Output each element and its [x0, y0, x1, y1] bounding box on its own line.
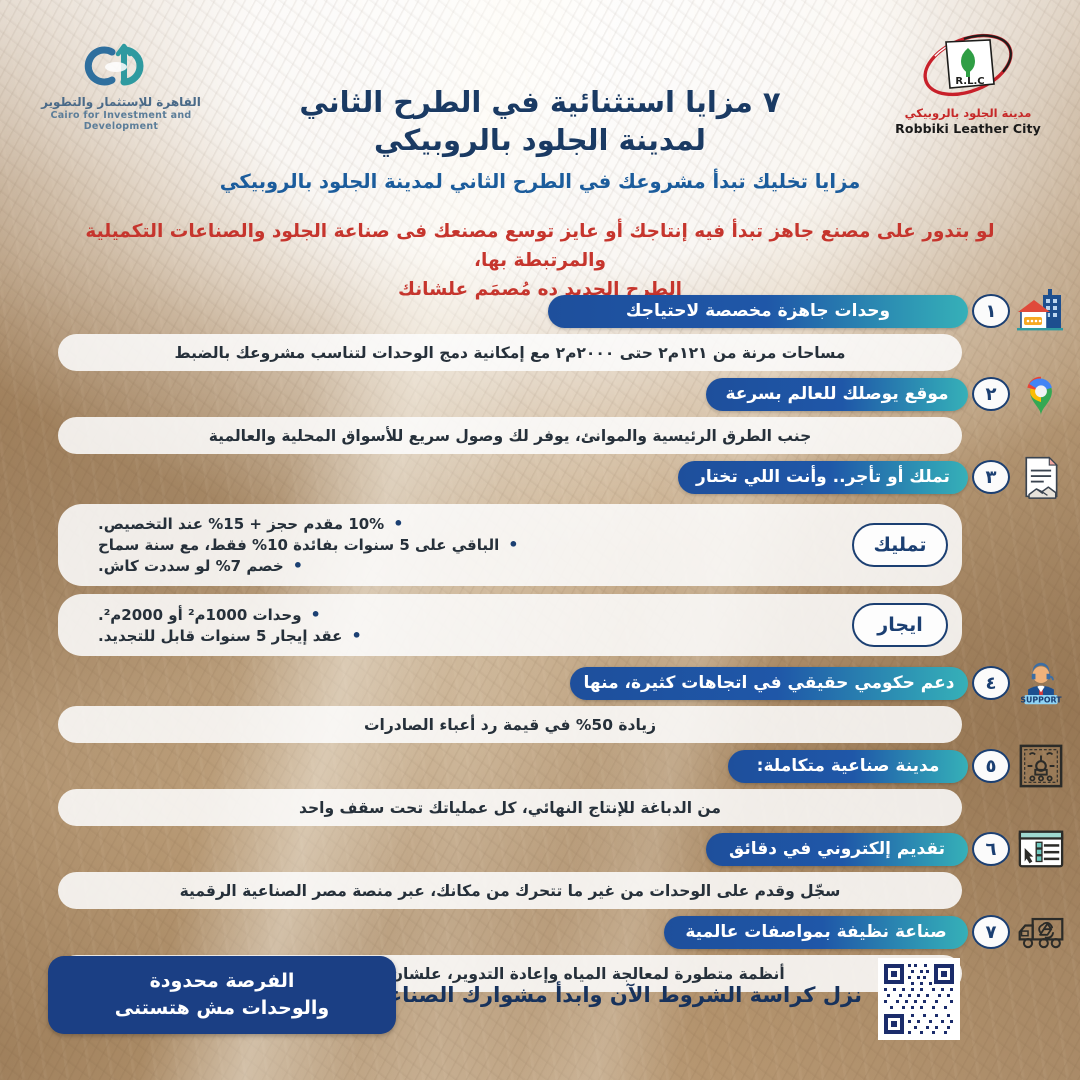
features-list: ١ وحدات جاهزة مخصصة لاحتياجك مساحات مرنة…	[0, 292, 1080, 996]
feature-3-header: ٣ تملك أو تأجر.. وأنت اللي تختار	[0, 458, 1080, 496]
feature-2-description: جنب الطرق الرئيسية والموانئ، يوفر لك وصو…	[58, 417, 962, 454]
online-form-icon	[1010, 829, 1072, 869]
feature-2-number: ٢	[972, 377, 1010, 411]
feature-4-number: ٤	[972, 666, 1010, 700]
list-item: • وحدات 1000م² أو 2000م².	[98, 606, 321, 624]
feature-1-number: ١	[972, 294, 1010, 328]
feature-4-title: دعم حكومي حقيقي في اتجاهات كثيرة، منها	[570, 667, 968, 700]
page-subtitle: مزايا تخليك تبدأ مشروعك في الطرح الثاني …	[0, 169, 1080, 194]
option-items-rent: • وحدات 1000م² أو 2000م². • عقد إيجار 5 …	[68, 606, 838, 645]
feature-7-header: ٧ صناعة نظيفة بمواصفات عالمية	[0, 913, 1080, 951]
recycling-truck-icon	[1010, 912, 1072, 952]
factory-warehouse-icon	[1010, 291, 1072, 331]
bullet-dot: •	[508, 537, 518, 553]
limited-offer-box[interactable]: الفرصة محدودة والوحدات مش هتستنى	[48, 956, 396, 1034]
list-item: • عقد إيجار 5 سنوات قابل للتجديد.	[98, 627, 362, 645]
feature-6-header: ٦ تقديم إلكتروني في دقائق	[0, 830, 1080, 868]
feature-1-header: ١ وحدات جاهزة مخصصة لاحتياجك	[0, 292, 1080, 330]
feature-item-3: ٣ تملك أو تأجر.. وأنت اللي تختار تمليك •…	[0, 458, 1080, 656]
feature-6-number: ٦	[972, 832, 1010, 866]
header-block: ٧ مزايا استثنائية في الطرح الثاني لمدينة…	[0, 84, 1080, 304]
footer-block: نزل كراسة الشروط الآن وابدأ مشوارك الصنا…	[0, 956, 1080, 1042]
limited-offer-line2: والوحدات مش هتستنى	[115, 995, 330, 1022]
option-label-rent: ايجار	[852, 603, 948, 647]
page-title-line1: ٧ مزايا استثنائية في الطرح الثاني	[0, 84, 1080, 122]
list-item: • الباقي على 5 سنوات بفائدة 10% فقط، مع …	[98, 536, 519, 554]
bullet-dot: •	[393, 516, 403, 532]
feature-3-title: تملك أو تأجر.. وأنت اللي تختار	[678, 461, 968, 494]
qr-code-icon[interactable]	[878, 958, 960, 1040]
feature-item-2: ٢ موقع يوصلك للعالم بسرعة جنب الطرق الرئ…	[0, 375, 1080, 454]
feature-5-number: ٥	[972, 749, 1010, 783]
feature-3-number: ٣	[972, 460, 1010, 494]
option-item-text: عقد إيجار 5 سنوات قابل للتجديد.	[98, 627, 342, 645]
option-block-rent: ايجار • وحدات 1000م² أو 2000م². • عقد إي…	[58, 594, 962, 656]
limited-offer-line1: الفرصة محدودة	[150, 968, 295, 995]
list-item: • 10% مقدم حجز + 15% عند التخصيص.	[98, 515, 403, 533]
feature-6-description: سجّل وقدم على الوحدات من غير ما تتحرك من…	[58, 872, 962, 909]
map-pin-icon	[1010, 374, 1072, 414]
option-item-text: 10% مقدم حجز + 15% عند التخصيص.	[98, 515, 384, 533]
option-item-text: الباقي على 5 سنوات بفائدة 10% فقط، مع سن…	[98, 536, 499, 554]
feature-4-description: زيادة 50% في قيمة رد أعباء الصادرات	[58, 706, 962, 743]
feature-item-4: SUPPORT ٤ دعم حكومي حقيقي في اتجاهات كثي…	[0, 664, 1080, 743]
poster-page: R.L.C مدينة الجلود بالروبيكي Robbiki Lea…	[0, 0, 1080, 1080]
feature-item-5: ٥ مدينة صناعية متكاملة: من الدباغة للإنت…	[0, 747, 1080, 826]
list-item: • خصم 7% لو سددت كاش.	[98, 557, 303, 575]
feature-7-number: ٧	[972, 915, 1010, 949]
feature-5-description: من الدباغة للإنتاج النهائي، كل عملياتك ت…	[58, 789, 962, 826]
feature-item-1: ١ وحدات جاهزة مخصصة لاحتياجك مساحات مرنة…	[0, 292, 1080, 371]
footer-cta-text: نزل كراسة الشروط الآن وابدأ مشوارك الصنا…	[367, 983, 862, 1007]
industrial-machinery-icon	[1010, 746, 1072, 786]
contract-handshake-icon	[1010, 457, 1072, 497]
page-title: ٧ مزايا استثنائية في الطرح الثاني لمدينة…	[0, 84, 1080, 159]
option-item-text: خصم 7% لو سددت كاش.	[98, 557, 284, 575]
feature-6-title: تقديم إلكتروني في دقائق	[706, 833, 968, 866]
intro-line1: لو بتدور على مصنع جاهز تبدأ فيه إنتاجك أ…	[75, 217, 1005, 275]
svg-text:SUPPORT: SUPPORT	[1020, 695, 1062, 704]
bullet-dot: •	[293, 558, 303, 574]
feature-item-6: ٦ تقديم إلكتروني في دقائق سجّل وقدم على …	[0, 830, 1080, 909]
support-agent-icon: SUPPORT	[1010, 663, 1072, 703]
feature-5-header: ٥ مدينة صناعية متكاملة:	[0, 747, 1080, 785]
feature-1-description: مساحات مرنة من ١٢١م٢ حتى ٢٠٠٠م٢ مع إمكان…	[58, 334, 962, 371]
bullet-dot: •	[351, 628, 361, 644]
feature-1-title: وحدات جاهزة مخصصة لاحتياجك	[548, 295, 968, 328]
option-block-ownership: تمليك • 10% مقدم حجز + 15% عند التخصيص. …	[58, 504, 962, 586]
option-items-ownership: • 10% مقدم حجز + 15% عند التخصيص. • البا…	[68, 515, 838, 575]
feature-7-title: صناعة نظيفة بمواصفات عالمية	[664, 916, 968, 949]
feature-2-header: ٢ موقع يوصلك للعالم بسرعة	[0, 375, 1080, 413]
feature-5-title: مدينة صناعية متكاملة:	[728, 750, 968, 783]
option-label-ownership: تمليك	[852, 523, 948, 567]
page-title-line2: لمدينة الجلود بالروبيكي	[0, 122, 1080, 160]
feature-4-header: SUPPORT ٤ دعم حكومي حقيقي في اتجاهات كثي…	[0, 664, 1080, 702]
option-item-text: وحدات 1000م² أو 2000م².	[98, 606, 302, 624]
feature-2-title: موقع يوصلك للعالم بسرعة	[706, 378, 968, 411]
bullet-dot: •	[311, 607, 321, 623]
